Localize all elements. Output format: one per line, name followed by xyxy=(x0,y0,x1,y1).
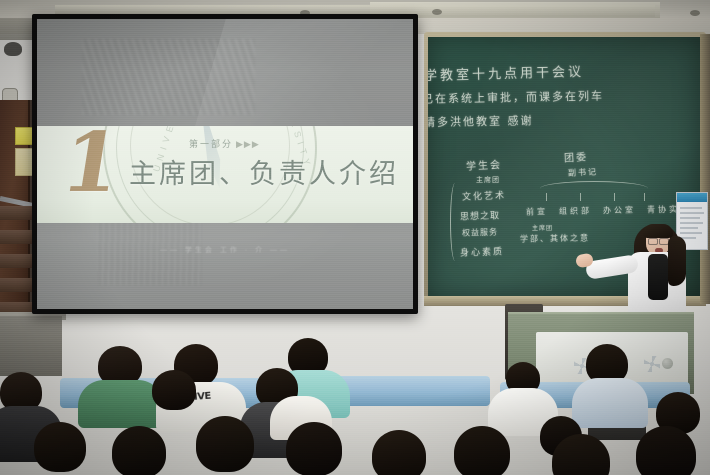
slide-title: 主席团、负责人介绍 xyxy=(129,152,399,191)
blackboard-left-header: 学生会 xyxy=(466,156,503,173)
slide-kicker-label: 第一部分 xyxy=(189,139,233,149)
blackboard-right-note: 学部、其体之意 xyxy=(520,232,590,244)
slide-kicker: 第一部分▶▶▶ xyxy=(189,137,260,150)
wall-poster-header xyxy=(677,193,707,202)
presenter-inner-top xyxy=(648,254,668,300)
presenter-fringe xyxy=(643,224,673,238)
audience-head xyxy=(552,434,610,475)
projection-screen: UNIVERSITY UNIVERSITY 1 第一部分▶▶▶ 主席团、负责人介… xyxy=(37,19,413,309)
blackboard-left-item-3: 权益服务 xyxy=(462,226,498,238)
blackboard-left-item-2: 思想之取 xyxy=(460,208,500,222)
blackboard-right-edge xyxy=(700,34,710,304)
blackboard-left-sub: 主席团 xyxy=(476,175,500,185)
audience-body xyxy=(572,378,648,428)
ceiling-sensor-icon xyxy=(4,42,22,56)
slide-footer: —— 学生会 工作 · 介 —— xyxy=(37,245,413,255)
blackboard-right-header: 团委 xyxy=(564,148,589,164)
audience-head xyxy=(454,426,510,475)
audience-head xyxy=(196,416,254,472)
blackboard-left-item-4: 身心素质 xyxy=(460,244,504,259)
audience-area: NDFIVE xyxy=(0,330,710,475)
slide-content-band: UNIVERSITY UNIVERSITY 1 第一部分▶▶▶ 主席团、负责人介… xyxy=(37,126,413,223)
audience-head xyxy=(286,422,342,475)
blackboard-left-brace-icon xyxy=(450,183,460,261)
slide-kicker-arrows-icon: ▶▶▶ xyxy=(236,139,260,149)
rail-screw-icon xyxy=(432,9,442,15)
blackboard-right-note-label: 主席团 xyxy=(532,223,553,232)
projection-screen-frame: UNIVERSITY UNIVERSITY 1 第一部分▶▶▶ 主席团、负责人介… xyxy=(32,14,418,314)
audience-head xyxy=(372,430,426,475)
presenter-glasses-icon xyxy=(648,238,658,245)
blackboard-right-sub: 副书记 xyxy=(568,166,598,178)
audience-head xyxy=(636,426,696,475)
presenter-hair-side xyxy=(668,236,686,286)
blackboard-left-item-1: 文化艺术 xyxy=(462,188,506,203)
audience-head xyxy=(152,370,196,410)
classroom-scene: UNIVERSITY UNIVERSITY 1 第一部分▶▶▶ 主席团、负责人介… xyxy=(0,0,710,475)
audience-head xyxy=(112,426,166,475)
blackboard-right-brace-icon xyxy=(540,181,648,196)
blackboard-line-2: 已在系统上审批，而课多在列车 xyxy=(428,87,604,106)
audience-head xyxy=(34,422,86,472)
blackboard-line-3: 请多洪他教室 感谢 xyxy=(428,112,534,130)
rail-screw-icon xyxy=(690,10,700,16)
